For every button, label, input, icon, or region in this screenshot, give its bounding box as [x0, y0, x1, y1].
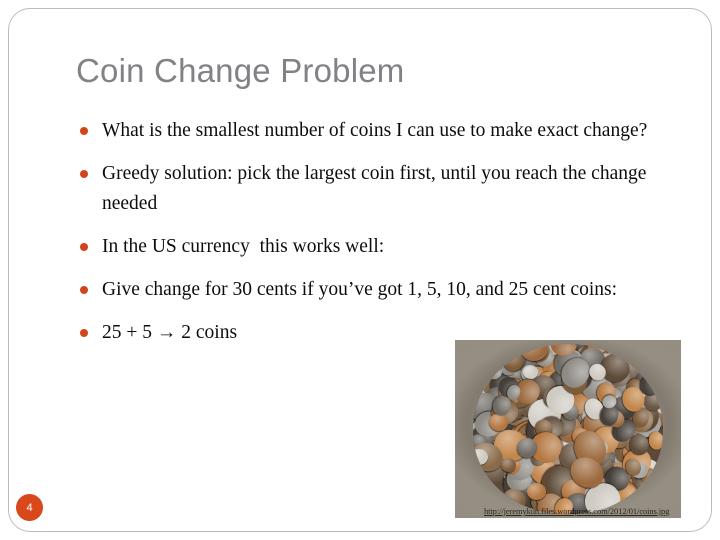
- list-item: What is the smallest number of coins I c…: [76, 116, 680, 146]
- list-item-label: Greedy solution: pick the largest coin f…: [102, 159, 680, 219]
- list-item: Greedy solution: pick the largest coin f…: [76, 159, 680, 219]
- list-item-label: What is the smallest number of coins I c…: [102, 116, 680, 146]
- coin-jar-photo: [455, 340, 681, 518]
- slide: Coin Change Problem What is the smallest…: [0, 0, 720, 540]
- bullet-dot-icon: [80, 286, 88, 294]
- list-item: Give change for 30 cents if you’ve got 1…: [76, 275, 680, 305]
- bullet-dot-icon: [80, 329, 88, 337]
- bullet-list: What is the smallest number of coins I c…: [76, 116, 680, 361]
- list-item: In the US currency this works well:: [76, 232, 680, 262]
- slide-number-badge: 4: [16, 494, 43, 521]
- page-title: Coin Change Problem: [76, 52, 676, 90]
- list-item-label: Give change for 30 cents if you’ve got 1…: [102, 275, 680, 305]
- bullet-dot-icon: [80, 127, 88, 135]
- bullet-dot-icon: [80, 170, 88, 178]
- photo-credit-link[interactable]: http://jeremykun.files.wordpress.com/201…: [484, 506, 669, 516]
- coins-pile: [473, 344, 663, 515]
- list-item-label: In the US currency this works well:: [102, 232, 680, 262]
- bullet-dot-icon: [80, 243, 88, 251]
